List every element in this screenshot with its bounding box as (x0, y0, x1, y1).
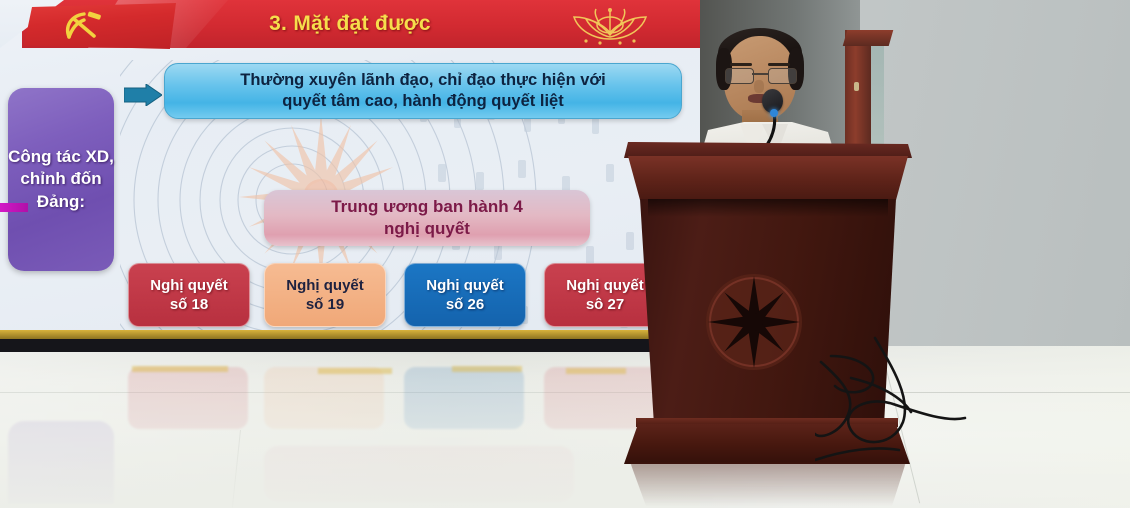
glasses-bridge (752, 73, 768, 75)
resolution-label: Nghị quyết (286, 277, 364, 294)
central-statement-box[interactable]: Trung ương ban hành 4 nghị quyết (264, 190, 590, 246)
resolution-box-18[interactable]: Nghị quyết số 18 (128, 263, 250, 327)
podium-front-angled (628, 156, 908, 200)
central-statement-line-2: nghị quyết (384, 219, 470, 238)
resolution-box-19[interactable]: Nghị quyết số 19 (264, 263, 386, 327)
right-arrow-connector-icon (124, 84, 162, 106)
floor-light-glint (132, 366, 228, 372)
door-latch-icon (854, 82, 859, 91)
headline-line-1: Thường xuyên lãnh đạo, chỉ đạo thực hiện… (240, 71, 605, 89)
central-statement-line-1: Trung ương ban hành 4 (331, 197, 523, 216)
floor-reflection-fade (0, 354, 700, 508)
nose (754, 80, 764, 93)
lens-right (768, 68, 797, 84)
eyebrow-left (730, 63, 752, 66)
floor-light-glint (566, 368, 626, 374)
resolution-number: sô 27 (586, 296, 624, 313)
door-frame-top (843, 30, 894, 46)
podium-top-edge (624, 142, 912, 158)
left-topic-box[interactable]: Công tác XD, chỉnh đốn Đảng: (8, 88, 114, 271)
eyebrow-right (768, 63, 790, 66)
screen-bottom-frame (0, 339, 700, 352)
microphone-led (770, 109, 778, 117)
resolution-box-26[interactable]: Nghị quyết số 26 (404, 263, 526, 327)
resolution-number: số 26 (446, 296, 484, 313)
photo-scene: 3. Mặt đạt được Công tác XD, chỉnh đốn Đ… (0, 0, 1130, 508)
headline-callout-box[interactable]: Thường xuyên lãnh đạo, chỉ đạo thực hiện… (164, 63, 682, 119)
podium-top-shadow (648, 199, 888, 217)
resolution-label: Nghị quyết (426, 277, 504, 294)
lens-left (725, 68, 754, 84)
floor-light-glint (452, 366, 522, 372)
resolution-label: Nghị quyết (566, 277, 644, 294)
projection-screen: 3. Mặt đạt được Công tác XD, chỉnh đốn Đ… (0, 0, 700, 338)
sunburst-star-emblem-icon (700, 268, 808, 376)
audio-cables (815, 300, 1130, 508)
resolution-number: số 19 (306, 296, 344, 313)
headline-line-2: quyết tâm cao, hành động quyết liệt (282, 92, 563, 110)
screen-gold-trim (0, 330, 700, 339)
resolution-number: số 18 (170, 296, 208, 313)
accent-bar (0, 203, 28, 212)
floor-light-glint (318, 368, 392, 374)
resolution-label: Nghị quyết (150, 277, 228, 294)
hammer-sickle-icon (60, 9, 108, 43)
